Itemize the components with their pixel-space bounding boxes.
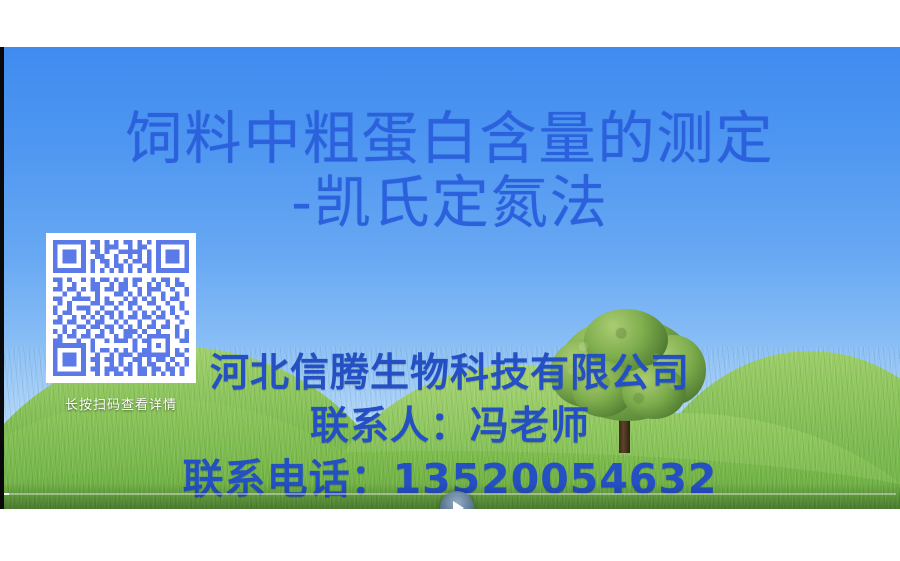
video-player-stage[interactable]: 饲料中粗蛋白含量的测定 -凯氏定氮法 河北信腾生物科技有限公司 联系人：冯老师 … (0, 47, 900, 509)
qr-code-overlay[interactable]: 长按扫码查看详情 (46, 233, 196, 413)
tree-foliage-detail (554, 313, 700, 425)
video-left-bezel (0, 47, 4, 509)
tree-illustration (548, 309, 706, 454)
screenshot-root: 饲料中粗蛋白含量的测定 -凯氏定氮法 河北信腾生物科技有限公司 联系人：冯老师 … (0, 0, 900, 561)
video-player-controls[interactable] (0, 487, 900, 509)
qr-code-icon[interactable] (46, 233, 196, 383)
qr-code-caption: 长按扫码查看详情 (46, 394, 196, 413)
video-progress-fill (4, 493, 9, 495)
